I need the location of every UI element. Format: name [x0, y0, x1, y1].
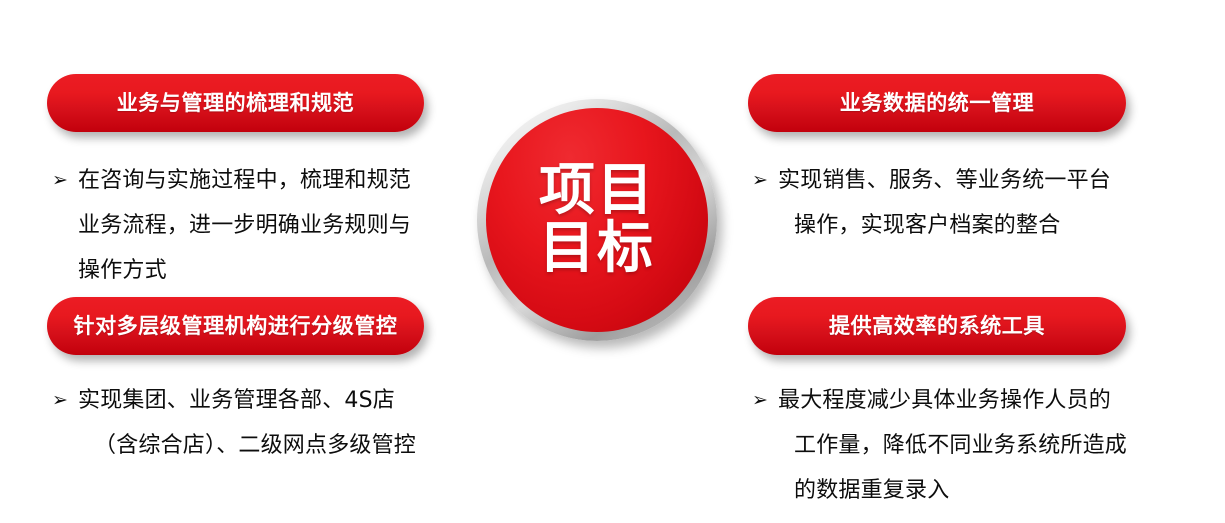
pill-label: 业务与管理的梳理和规范: [117, 93, 355, 114]
pill-label: 业务数据的统一管理: [840, 93, 1034, 114]
circle-disc: 项目 目标: [486, 108, 708, 332]
center-goal-circle: 项目 目标: [477, 99, 717, 341]
center-title: 项目 目标: [539, 162, 655, 278]
bullet-line: （含综合店）、二级网点多级管控: [78, 423, 437, 468]
bullet-efficiency: ➢ 最大程度减少具体业务操作人员的 工作量，降低不同业务系统所造成 的数据重复录…: [752, 378, 1142, 513]
pill-multi-level-hierarchical-control[interactable]: 针对多层级管理机构进行分级管控: [47, 297, 424, 355]
bullet-unified-data: ➢ 实现销售、服务、等业务统一平台 操作，实现客户档案的整合: [752, 158, 1142, 248]
arrow-bullet-icon: ➢: [752, 378, 778, 423]
bullet-text: 在咨询与实施过程中，梳理和规范 业务流程，进一步明确业务规则与 操作方式: [78, 158, 437, 293]
pill-label: 针对多层级管理机构进行分级管控: [74, 316, 398, 337]
pill-unified-business-data-management[interactable]: 业务数据的统一管理: [748, 74, 1126, 132]
bullet-standardization: ➢ 在咨询与实施过程中，梳理和规范 业务流程，进一步明确业务规则与 操作方式: [52, 158, 437, 293]
center-title-line-2: 目标: [539, 220, 655, 278]
arrow-bullet-icon: ➢: [752, 158, 778, 203]
bullet-line: 工作量，降低不同业务系统所造成: [778, 423, 1142, 468]
bullet-line: 操作方式: [78, 248, 437, 293]
circle-ring: 项目 目标: [477, 99, 717, 341]
bullet-line: 实现集团、业务管理各部、4S店: [78, 378, 437, 423]
bullet-line: 操作，实现客户档案的整合: [778, 203, 1142, 248]
arrow-bullet-icon: ➢: [52, 378, 78, 423]
project-goals-diagram: 业务与管理的梳理和规范 ➢ 在咨询与实施过程中，梳理和规范 业务流程，进一步明确…: [0, 0, 1225, 523]
bullet-line: 实现销售、服务、等业务统一平台: [778, 158, 1142, 203]
bullet-line: 最大程度减少具体业务操作人员的: [778, 378, 1142, 423]
center-title-line-1: 项目: [539, 162, 655, 220]
bullet-text: 最大程度减少具体业务操作人员的 工作量，降低不同业务系统所造成 的数据重复录入: [778, 378, 1142, 513]
bullet-line: 在咨询与实施过程中，梳理和规范: [78, 158, 437, 203]
bullet-text: 实现集团、业务管理各部、4S店 （含综合店）、二级网点多级管控: [78, 378, 437, 468]
arrow-bullet-icon: ➢: [52, 158, 78, 203]
bullet-line: 的数据重复录入: [778, 468, 1142, 513]
pill-efficient-system-tools[interactable]: 提供高效率的系统工具: [748, 297, 1126, 355]
bullet-hierarchical-control: ➢ 实现集团、业务管理各部、4S店 （含综合店）、二级网点多级管控: [52, 378, 437, 468]
pill-business-management-standardization[interactable]: 业务与管理的梳理和规范: [47, 74, 424, 132]
bullet-text: 实现销售、服务、等业务统一平台 操作，实现客户档案的整合: [778, 158, 1142, 248]
pill-label: 提供高效率的系统工具: [829, 316, 1045, 337]
bullet-line: 业务流程，进一步明确业务规则与: [78, 203, 437, 248]
